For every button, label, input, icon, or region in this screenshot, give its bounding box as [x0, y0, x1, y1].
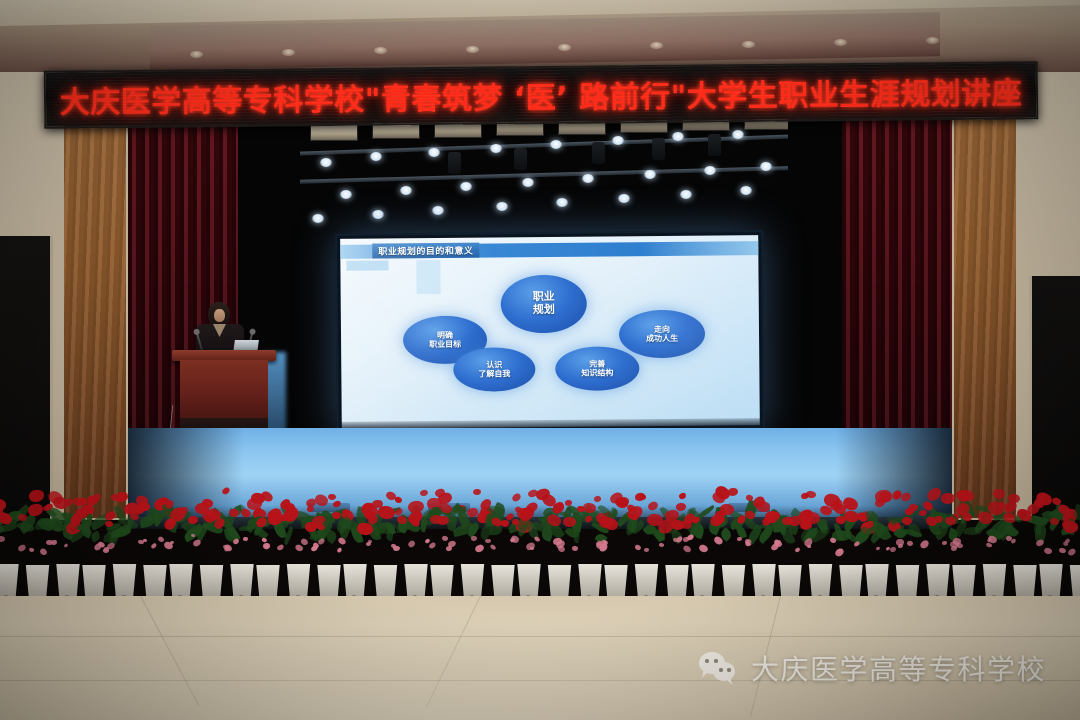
stage-spot-light	[522, 178, 534, 187]
side-alcove-left	[0, 236, 53, 522]
slide-bubble-bottom-left: 认识了解自我	[453, 347, 535, 392]
pink-bloom	[276, 544, 284, 552]
pink-bloom	[143, 538, 148, 542]
pink-bloom	[681, 544, 691, 554]
pink-bloom	[150, 543, 157, 550]
pink-bloom	[698, 543, 709, 554]
watermark: 大庆医学高等专科学校	[699, 648, 1046, 688]
watermark-text: 大庆医学高等专科学校	[751, 648, 1046, 688]
slide-bubble-group: 职业规划明确职业目标认识了解自我完善知识结构走向成功人生	[340, 235, 758, 239]
pink-bloom	[407, 540, 416, 549]
stage-spot-light	[612, 136, 624, 145]
flower-pot	[166, 564, 196, 600]
red-poinsettia-bloom	[328, 494, 337, 501]
hanging-light-fixture	[592, 142, 605, 164]
red-poinsettia-bloom	[679, 492, 688, 500]
pink-bloom	[1035, 539, 1044, 548]
wooden-pillar-right	[954, 118, 1016, 518]
flower-pot	[53, 564, 83, 600]
pink-bloom	[294, 543, 304, 553]
pink-bloom	[1067, 547, 1077, 557]
slide-title: 职业规划的目的和意义	[372, 243, 479, 259]
stage-spot-light	[312, 214, 324, 223]
red-poinsettia-bloom	[992, 488, 1006, 500]
hanging-light-fixture	[514, 148, 527, 170]
stage-light-housing	[310, 124, 358, 141]
flower-pot	[923, 564, 953, 600]
projection-screen: 职业规划的目的和意义 职业规划明确职业目标认识了解自我完善知识结构走向成功人生	[335, 230, 765, 434]
red-poinsettia-bloom	[110, 493, 119, 501]
led-banner: 大庆医学高等专科学校"青春筑梦 ‘医’ 路前行"大学生职业生涯规划讲座	[44, 61, 1039, 129]
red-poinsettia-bloom	[875, 498, 886, 508]
slide-accent-block	[346, 260, 388, 270]
stage-spot-light	[432, 206, 444, 215]
red-poinsettia-bloom	[728, 488, 738, 496]
pink-bloom	[919, 539, 930, 549]
pink-bloom	[39, 547, 48, 556]
stage-spot-light	[320, 158, 332, 167]
stage-spot-light	[400, 186, 412, 195]
pink-bloom	[0, 536, 6, 543]
pink-bloom	[366, 541, 371, 545]
pink-bloom	[795, 547, 801, 553]
flower-pot	[575, 564, 605, 600]
pink-bloom	[635, 544, 642, 551]
wechat-dot-3	[719, 668, 723, 672]
pink-bloom	[441, 535, 449, 542]
flower-pot	[1036, 564, 1066, 600]
red-poinsettia-bloom	[900, 492, 912, 503]
red-poinsettia-bloom	[221, 486, 231, 495]
stage-lighting-truss	[300, 118, 788, 230]
bubble-line-2: 成功人生	[646, 334, 678, 343]
bubble-line-2: 职业目标	[429, 340, 461, 349]
bubble-line-1: 走向	[654, 325, 670, 334]
stage-spot-light	[340, 190, 352, 199]
pink-bloom	[1044, 547, 1054, 556]
stage-spot-light	[372, 210, 384, 219]
pink-bloom	[64, 543, 69, 548]
flower-pot	[227, 564, 257, 600]
auditorium-photo: 大庆医学高等专科学校"青春筑梦 ‘医’ 路前行"大学生职业生涯规划讲座 职业规划…	[0, 0, 1080, 720]
wechat-icon	[699, 652, 739, 684]
stage-spot-light	[428, 148, 440, 157]
red-poinsettia-bloom	[675, 502, 685, 510]
hanging-light-fixture	[448, 152, 461, 174]
red-poinsettia-bloom	[420, 490, 429, 497]
ceiling	[0, 0, 1080, 72]
slide-bubble-center: 职业规划	[501, 275, 588, 334]
flower-pot	[514, 564, 544, 600]
pink-bloom	[1059, 547, 1067, 554]
bubble-line-1: 明确	[437, 331, 453, 340]
pink-bloom	[337, 547, 344, 554]
ceiling-soffit	[150, 12, 940, 70]
flower-pot	[0, 564, 22, 600]
red-poinsettia-bloom	[565, 500, 572, 506]
wechat-bubble-small	[713, 662, 735, 681]
flower-leaf	[139, 515, 156, 529]
red-poinsettia-bloom	[473, 489, 481, 495]
pink-bloom	[897, 543, 903, 548]
flower-pot	[806, 564, 836, 600]
flower-pot	[458, 564, 488, 600]
pink-bloom	[890, 547, 897, 553]
pink-bloom	[490, 543, 497, 550]
wechat-dot-1	[705, 659, 709, 663]
pink-bloom	[446, 545, 453, 551]
stage-spot-light	[672, 132, 684, 141]
stage-spot-light	[760, 162, 772, 171]
ceiling-downlight	[834, 39, 847, 46]
stage-spot-light	[644, 170, 656, 179]
pink-bloom	[428, 542, 437, 550]
pink-bloom	[658, 543, 664, 549]
stage-spot-light	[680, 190, 692, 199]
flower-pot	[632, 564, 662, 600]
pink-bloom	[474, 543, 485, 552]
red-poinsettia-bloom	[511, 492, 522, 503]
stage-spot-light	[370, 152, 382, 161]
pink-bloom	[470, 536, 477, 541]
pink-bloom	[17, 543, 27, 552]
flower-leaf	[490, 526, 502, 535]
red-poinsettia-bloom	[394, 496, 403, 504]
flower-pot	[110, 564, 140, 600]
stage-spot-light	[618, 194, 630, 203]
stage-spot-light	[732, 130, 744, 139]
stage-spot-light	[556, 198, 568, 207]
pink-bloom	[942, 540, 947, 544]
bubble-line-2: 规划	[533, 304, 555, 317]
hanging-light-fixture	[652, 138, 665, 160]
flower-pot	[862, 564, 892, 600]
pink-bloom	[907, 540, 914, 546]
red-poinsettia-bloom	[27, 503, 44, 517]
bubble-line-2: 知识结构	[581, 368, 613, 377]
stage-spot-light	[490, 144, 502, 153]
wechat-dot-4	[727, 668, 731, 672]
ceiling-downlight	[190, 51, 203, 58]
stage-spot-light	[582, 174, 594, 183]
bubble-line-1: 认识	[486, 360, 502, 369]
flower-pot	[340, 564, 370, 600]
red-poinsettia-bloom	[941, 493, 955, 504]
red-poinsettia-bloom	[307, 506, 314, 512]
stage-spot-light	[704, 166, 716, 175]
flower-pot	[749, 564, 779, 600]
flower-pot	[401, 564, 431, 600]
bubble-line-2: 了解自我	[478, 369, 510, 378]
pink-bloom	[243, 537, 248, 541]
speaker-face	[214, 309, 225, 322]
pink-bloom	[876, 547, 881, 551]
stage-spot-light	[550, 140, 562, 149]
bubble-line-1: 完善	[589, 359, 605, 368]
pink-bloom	[806, 545, 811, 549]
red-poinsettia-bloom	[28, 489, 44, 502]
pink-bloom	[533, 535, 540, 542]
slide-accent-block-2	[416, 260, 440, 294]
stage-spot-light	[740, 186, 752, 195]
red-poinsettia-bloom	[188, 516, 198, 524]
ceiling-downlight	[558, 44, 571, 51]
red-poinsettia-bloom	[647, 500, 660, 511]
hanging-light-fixture	[708, 134, 721, 156]
pink-bloom	[572, 546, 579, 552]
flower-pot	[980, 564, 1010, 600]
slide-bubble-right: 走向成功人生	[619, 310, 705, 359]
ceiling-downlight	[282, 49, 295, 56]
presentation-slide: 职业规划的目的和意义 职业规划明确职业目标认识了解自我完善知识结构走向成功人生	[340, 235, 760, 429]
ceiling-downlight	[466, 46, 479, 53]
wechat-dot-2	[714, 659, 718, 663]
pink-bloom	[737, 536, 742, 540]
flower-pot	[688, 564, 718, 600]
wooden-pillar-left	[64, 118, 126, 518]
led-banner-text: 大庆医学高等专科学校"青春筑梦 ‘医’ 路前行"大学生职业生涯规划讲座	[46, 68, 1036, 122]
pink-bloom	[644, 548, 649, 552]
flower-pot	[284, 564, 314, 600]
pink-bloom	[29, 547, 36, 553]
red-poinsettia-bloom	[333, 500, 343, 508]
ceiling-downlight	[742, 41, 755, 48]
red-poinsettia-bloom	[594, 496, 602, 502]
stage-spot-light	[460, 182, 472, 191]
pink-bloom	[485, 539, 491, 543]
stage-spot-light	[496, 202, 508, 211]
pink-bloom	[525, 542, 535, 551]
slide-bubble-bottom-mid: 完善知识结构	[555, 346, 639, 391]
red-poinsettia-bloom	[714, 510, 724, 518]
